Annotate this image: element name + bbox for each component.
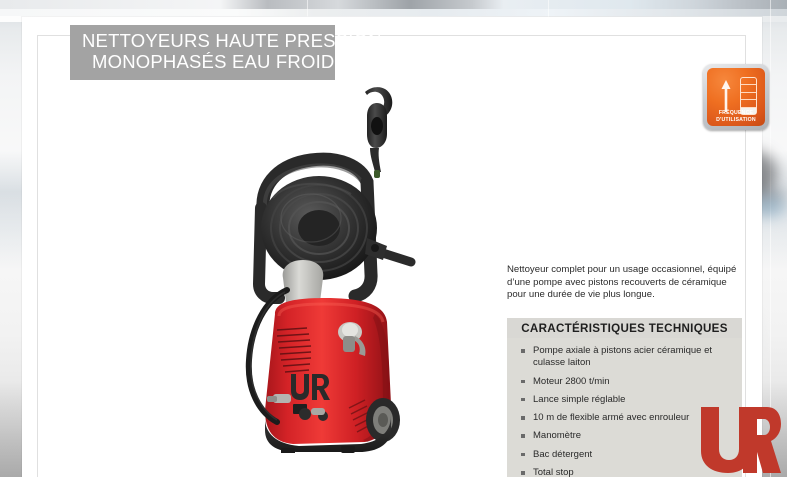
frequency-badge: FRÉQUENCE D'UTILISATION xyxy=(703,64,769,130)
page-title-line-1: NETTOYEURS HAUTE PRESSION xyxy=(70,30,335,51)
gauge-segment xyxy=(741,85,756,92)
ur-logo xyxy=(695,401,781,475)
page-title-line-2: MONOPHASÉS EAU FROIDE xyxy=(70,51,335,72)
list-item: Pompe axiale à pistons acier céramique e… xyxy=(507,345,742,376)
product-image xyxy=(215,78,445,453)
slide-viewer: NETTOYEURS HAUTE PRESSION MONOPHASÉS EAU… xyxy=(0,0,787,477)
list-item: Moteur 2800 t/min xyxy=(507,376,742,394)
product-description: Nettoyeur complet pour un usage occasion… xyxy=(507,264,742,302)
gauge-segment xyxy=(741,93,756,100)
frequency-badge-label-line-2: D'UTILISATION xyxy=(707,117,765,123)
frequency-badge-label: FRÉQUENCE D'UTILISATION xyxy=(707,110,765,123)
gauge-segment xyxy=(741,78,756,85)
spec-section-header: CARACTÉRISTIQUES TECHNIQUES xyxy=(507,318,742,338)
frequency-badge-inner: FRÉQUENCE D'UTILISATION xyxy=(707,68,765,126)
gauge-segment xyxy=(741,100,756,107)
background-band-top-2 xyxy=(0,9,787,16)
page-title: NETTOYEURS HAUTE PRESSION MONOPHASÉS EAU… xyxy=(70,25,335,80)
background-band-top xyxy=(0,0,787,9)
hose-reel xyxy=(261,176,377,280)
spray-gun xyxy=(365,87,392,178)
up-arrow-icon xyxy=(720,78,732,114)
